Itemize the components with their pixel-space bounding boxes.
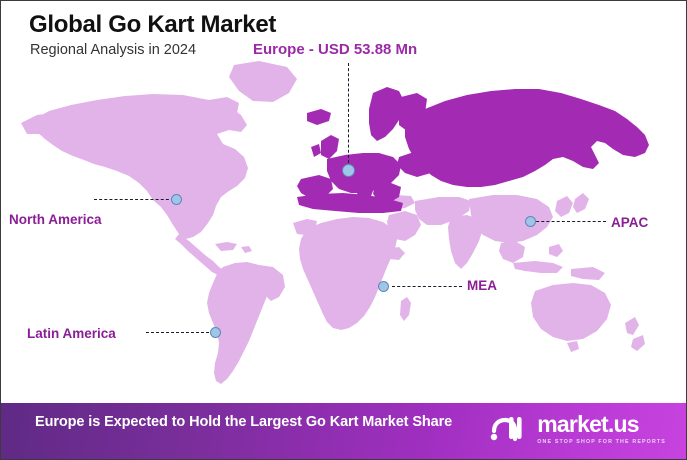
map-marker-apac[interactable] xyxy=(525,216,536,227)
leader-line-europe xyxy=(348,63,349,168)
callout-label-apac: APAC xyxy=(611,215,648,230)
map-marker-latin-america[interactable] xyxy=(210,327,221,338)
logo-tagline: ONE STOP SHOP FOR THE REPORTS xyxy=(537,439,666,445)
callout-label-latin-america: Latin America xyxy=(27,326,116,341)
market-us-logo-icon xyxy=(489,413,529,445)
logo-wordmark: market.us xyxy=(537,413,638,436)
map-marker-north-america[interactable] xyxy=(171,194,182,205)
callout-label-mea: MEA xyxy=(467,278,497,293)
leader-line-apac xyxy=(531,221,606,222)
leader-line-north-america xyxy=(94,199,174,200)
brand-logo[interactable]: market.us ONE STOP SHOP FOR THE REPORTS xyxy=(489,413,666,445)
infographic-canvas: Global Go Kart Market Regional Analysis … xyxy=(0,0,687,460)
callout-label-north-america: North America xyxy=(9,212,102,227)
footer-statement: Europe is Expected to Hold the Largest G… xyxy=(35,412,455,432)
leader-line-latin-america xyxy=(146,332,214,333)
map-marker-europe[interactable] xyxy=(342,164,355,177)
leader-line-mea xyxy=(392,286,462,287)
world-map-svg xyxy=(1,1,687,405)
map-marker-mea[interactable] xyxy=(378,281,389,292)
logo-text-group: market.us ONE STOP SHOP FOR THE REPORTS xyxy=(537,413,666,445)
world-map-container xyxy=(1,1,687,405)
footer-banner: Europe is Expected to Hold the Largest G… xyxy=(1,403,687,459)
